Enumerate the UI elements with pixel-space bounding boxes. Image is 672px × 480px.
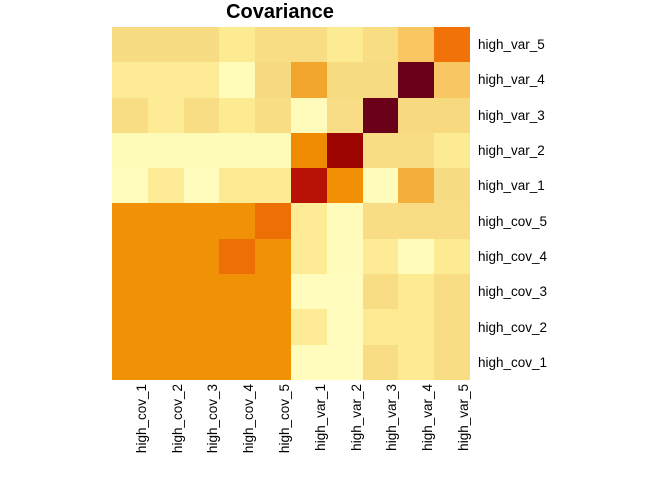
heatmap-cell <box>363 133 399 168</box>
heatmap-cell <box>184 239 220 274</box>
heatmap-cell <box>112 168 148 203</box>
heatmap-cell <box>363 309 399 344</box>
x-axis-tick-label: high_cov_4 <box>242 384 256 453</box>
heatmap-cell <box>112 203 148 238</box>
heatmap-cell <box>398 203 434 238</box>
heatmap-cell <box>291 62 327 97</box>
heatmap-cell <box>148 239 184 274</box>
heatmap-cell <box>363 239 399 274</box>
heatmap-cell <box>327 274 363 309</box>
heatmap-cell <box>112 309 148 344</box>
heatmap-cell <box>148 309 184 344</box>
heatmap-cell <box>148 345 184 380</box>
heatmap-cell <box>148 133 184 168</box>
heatmap-cell <box>184 274 220 309</box>
heatmap-cell <box>184 309 220 344</box>
heatmap-cell <box>363 203 399 238</box>
heatmap-cell <box>434 203 470 238</box>
heatmap-cell <box>112 133 148 168</box>
heatmap-cell <box>398 168 434 203</box>
y-axis-tick-label: high_cov_4 <box>478 239 668 274</box>
heatmap-cell <box>255 27 291 62</box>
heatmap-cell <box>398 345 434 380</box>
heatmap-cell <box>112 345 148 380</box>
heatmap-cell <box>434 309 470 344</box>
y-axis-tick-label: high_var_1 <box>478 168 668 203</box>
heatmap-cell <box>184 133 220 168</box>
heatmap-cell <box>148 27 184 62</box>
heatmap-cell <box>434 133 470 168</box>
heatmap-cell <box>327 168 363 203</box>
heatmap-cell <box>219 345 255 380</box>
heatmap-cell <box>184 27 220 62</box>
heatmap-cell <box>291 203 327 238</box>
heatmap-cell <box>327 203 363 238</box>
x-axis-tick-label: high_cov_1 <box>135 384 149 453</box>
heatmap-cell <box>255 309 291 344</box>
heatmap-cell <box>148 62 184 97</box>
heatmap-cell <box>291 274 327 309</box>
x-axis-tick-label: high_var_5 <box>457 384 471 451</box>
heatmap-cell <box>363 27 399 62</box>
y-axis-tick-label: high_var_2 <box>478 133 668 168</box>
y-axis-tick-label: high_cov_3 <box>478 274 668 309</box>
x-axis-tick-labels: high_cov_1high_cov_2high_cov_3high_cov_4… <box>112 384 470 480</box>
heatmap-cell <box>291 309 327 344</box>
heatmap-cell <box>363 62 399 97</box>
heatmap-cell <box>219 309 255 344</box>
heatmap-cell <box>255 62 291 97</box>
heatmap-cell <box>219 98 255 133</box>
heatmap-cell <box>219 274 255 309</box>
heatmap-cell <box>148 274 184 309</box>
heatmap-cell <box>327 62 363 97</box>
x-axis-tick-label: high_cov_3 <box>206 384 220 453</box>
heatmap-cell <box>255 168 291 203</box>
heatmap-cell <box>327 309 363 344</box>
y-axis-tick-label: high_cov_5 <box>478 203 668 238</box>
x-axis-tick-slot: high_cov_1 <box>112 384 148 480</box>
heatmap-cell <box>434 168 470 203</box>
x-axis-tick-slot: high_cov_3 <box>184 384 220 480</box>
heatmap-cell <box>291 168 327 203</box>
heatmap-cell <box>255 274 291 309</box>
heatmap-cell <box>398 98 434 133</box>
heatmap-cell <box>327 345 363 380</box>
heatmap-cell <box>398 133 434 168</box>
heatmap-cell <box>398 62 434 97</box>
x-axis-tick-label: high_var_1 <box>314 384 328 451</box>
heatmap-cell <box>291 239 327 274</box>
heatmap-cell <box>398 309 434 344</box>
heatmap-grid <box>112 27 470 380</box>
heatmap-cell <box>434 239 470 274</box>
heatmap-cell <box>112 239 148 274</box>
heatmap-cell <box>255 98 291 133</box>
heatmap-cell <box>363 168 399 203</box>
heatmap-cell <box>398 239 434 274</box>
heatmap-cell <box>327 133 363 168</box>
heatmap-cell <box>291 133 327 168</box>
x-axis-tick-slot: high_var_5 <box>434 384 470 480</box>
x-axis-tick-slot: high_var_2 <box>327 384 363 480</box>
heatmap-cell <box>219 168 255 203</box>
heatmap-cell <box>184 168 220 203</box>
heatmap-cell <box>148 203 184 238</box>
heatmap-cell <box>363 274 399 309</box>
heatmap-cell <box>255 203 291 238</box>
heatmap-cell <box>434 27 470 62</box>
heatmap-cell <box>219 239 255 274</box>
heatmap-cell <box>327 98 363 133</box>
page-title: Covariance <box>0 0 560 24</box>
heatmap-cell <box>219 27 255 62</box>
heatmap-cell <box>327 239 363 274</box>
x-axis-tick-slot: high_var_4 <box>398 384 434 480</box>
x-axis-tick-label: high_cov_5 <box>278 384 292 453</box>
heatmap-cell <box>112 274 148 309</box>
heatmap-cell <box>148 98 184 133</box>
heatmap-cell <box>184 345 220 380</box>
heatmap-cell <box>255 345 291 380</box>
x-axis-tick-label: high_var_2 <box>350 384 364 451</box>
y-axis-tick-label: high_var_3 <box>478 98 668 133</box>
x-axis-tick-slot: high_cov_4 <box>219 384 255 480</box>
heatmap-cell <box>363 345 399 380</box>
x-axis-tick-slot: high_cov_5 <box>255 384 291 480</box>
x-axis-tick-slot: high_var_1 <box>291 384 327 480</box>
heatmap-cell <box>291 98 327 133</box>
heatmap-cell <box>255 239 291 274</box>
heatmap-cell <box>255 133 291 168</box>
heatmap-cell <box>112 98 148 133</box>
heatmap-cell <box>291 27 327 62</box>
heatmap-cell <box>398 274 434 309</box>
x-axis-tick-label: high_var_4 <box>421 384 435 451</box>
heatmap-cell <box>219 203 255 238</box>
heatmap-cell <box>291 345 327 380</box>
y-axis-tick-label: high_var_5 <box>478 27 668 62</box>
heatmap-cell <box>219 133 255 168</box>
heatmap-cell <box>184 62 220 97</box>
x-axis-tick-label: high_var_3 <box>385 384 399 451</box>
x-axis-tick-slot: high_var_3 <box>363 384 399 480</box>
heatmap-cell <box>363 98 399 133</box>
heatmap-cell <box>398 27 434 62</box>
heatmap-cell <box>112 62 148 97</box>
y-axis-tick-label: high_cov_2 <box>478 309 668 344</box>
heatmap-cell <box>184 98 220 133</box>
heatmap-cell <box>434 62 470 97</box>
x-axis-tick-label: high_cov_2 <box>171 384 185 453</box>
heatmap-plot: Covariance high_var_5high_var_4high_var_… <box>0 0 672 480</box>
y-axis-tick-label: high_cov_1 <box>478 345 668 380</box>
heatmap-cell <box>327 27 363 62</box>
y-axis-tick-labels: high_var_5high_var_4high_var_3high_var_2… <box>478 27 668 380</box>
x-axis-tick-slot: high_cov_2 <box>148 384 184 480</box>
heatmap-cell <box>219 62 255 97</box>
heatmap-cell <box>112 27 148 62</box>
heatmap-cell <box>434 345 470 380</box>
heatmap-cell <box>184 203 220 238</box>
heatmap-cell <box>434 98 470 133</box>
heatmap-cell <box>434 274 470 309</box>
y-axis-tick-label: high_var_4 <box>478 62 668 97</box>
heatmap-cell <box>148 168 184 203</box>
